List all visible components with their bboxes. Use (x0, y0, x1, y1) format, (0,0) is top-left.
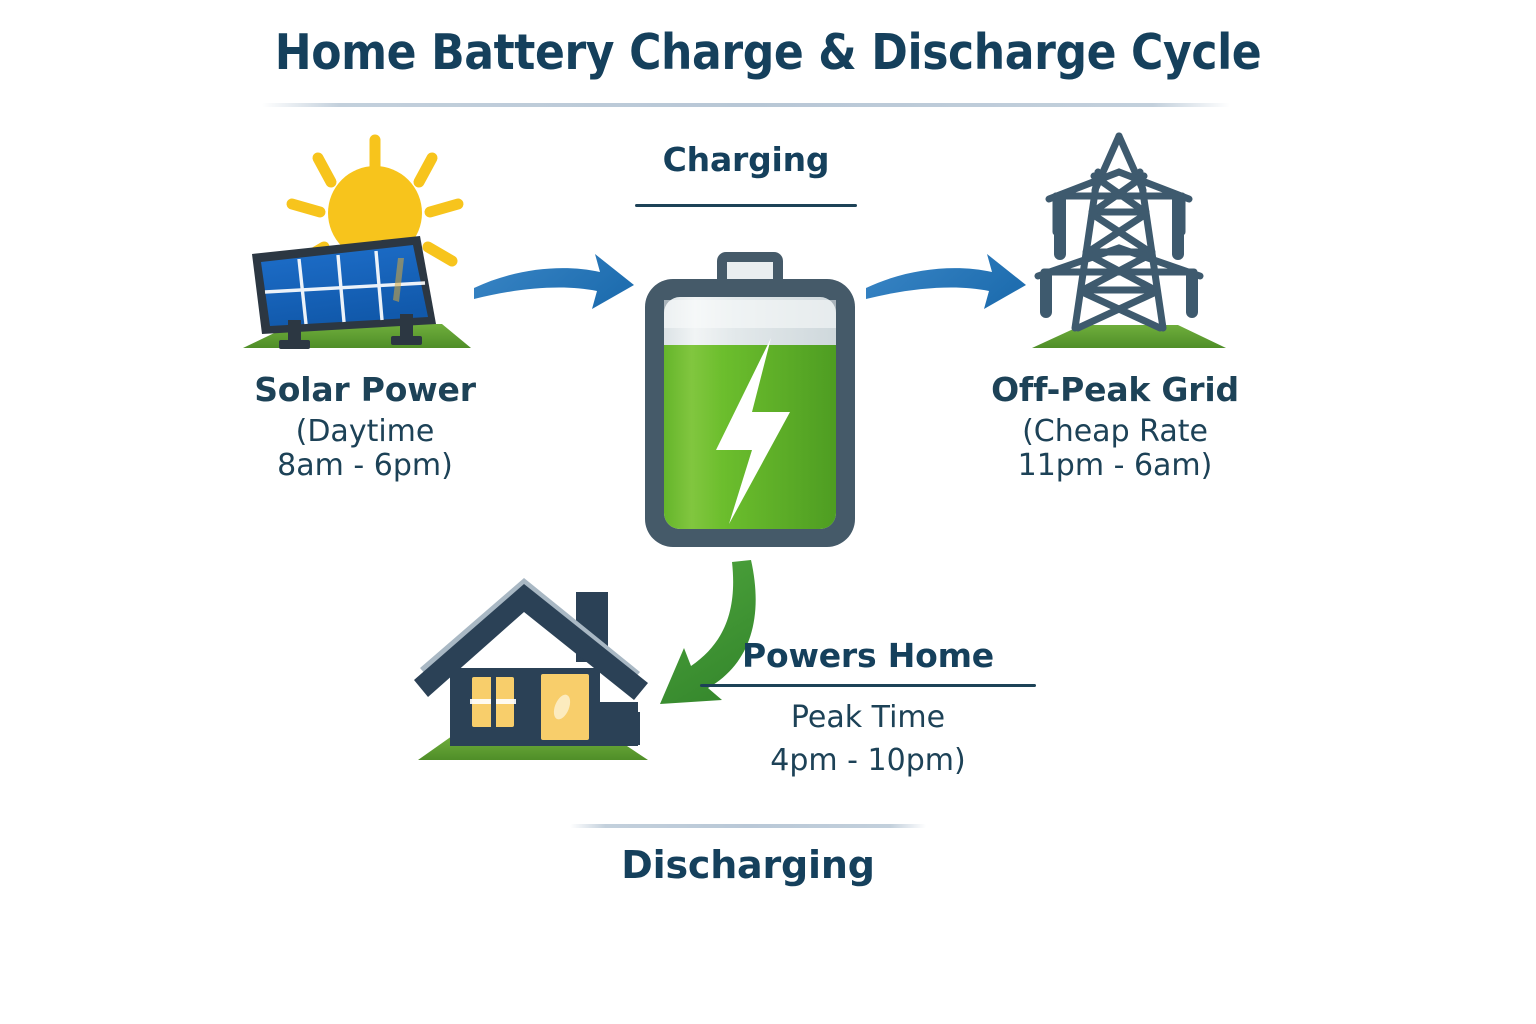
battery-fill-level (664, 345, 836, 529)
off-peak-grid-label: Off-Peak Grid (Cheap Rate 11pm - 6am) (965, 372, 1265, 482)
charging-section-underline (635, 204, 857, 207)
charge-arrow-to-grid (866, 254, 1026, 309)
house-icon (414, 578, 648, 760)
solar-power-label: Solar Power (Daytime 8am - 6pm) (215, 372, 515, 482)
solar-sub-line-2: 8am - 6pm) (215, 449, 515, 483)
grid-sub-line-1: (Cheap Rate (965, 415, 1265, 449)
powers-home-underline (700, 684, 1036, 687)
charging-section-label: Charging (620, 140, 872, 179)
infographic-canvas: Home Battery Charge & Discharge Cycle Ch… (0, 0, 1536, 1024)
home-sub-line-1: Peak Time (700, 697, 1036, 740)
home-sub-line-2: 4pm - 10pm) (700, 740, 1036, 783)
solar-sub-line-1: (Daytime (215, 415, 515, 449)
transmission-tower-icon (1032, 136, 1226, 348)
discharging-divider (570, 824, 926, 828)
battery-with-lightning-bolt-icon (645, 252, 855, 547)
house-window (472, 677, 514, 727)
grid-sub-line-2: 11pm - 6am) (965, 449, 1265, 483)
grid-headline: Off-Peak Grid (965, 372, 1265, 409)
page-title: Home Battery Charge & Discharge Cycle (0, 24, 1536, 81)
powers-home-sub: Peak Time 4pm - 10pm) (700, 697, 1036, 782)
powers-home-label: Powers Home (700, 636, 1036, 675)
lightning-bolt-icon (716, 338, 790, 524)
sun-disc (328, 166, 422, 260)
house-door (541, 674, 589, 740)
charge-arrow-from-solar (474, 254, 634, 309)
solar-panel-with-sun-icon (243, 140, 471, 349)
discharge-arrow-to-home (660, 560, 756, 704)
discharging-section-label: Discharging (560, 843, 936, 887)
solar-headline: Solar Power (215, 372, 515, 409)
title-divider (262, 103, 1230, 107)
